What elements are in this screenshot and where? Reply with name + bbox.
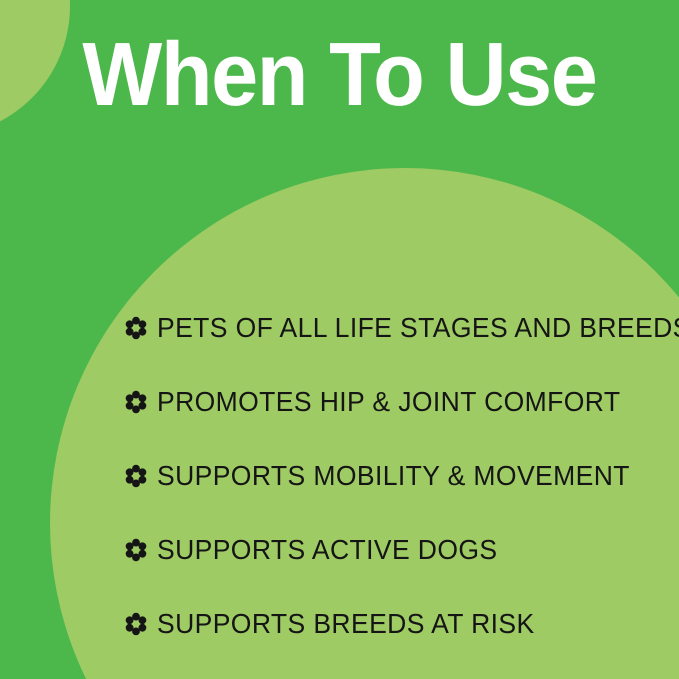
list-item-label: SUPPORTS ACTIVE DOGS xyxy=(157,536,498,564)
list-item-label: SUPPORTS BREEDS AT RISK xyxy=(157,610,535,638)
title-container: When To Use xyxy=(0,0,679,150)
when-to-use-poster: When To Use PETS OF ALL LIFE STAGES AND … xyxy=(0,0,679,679)
list-item-label: PETS OF ALL LIFE STAGES AND BREEDS xyxy=(157,314,679,342)
list-item: PETS OF ALL LIFE STAGES AND BREEDS xyxy=(124,296,669,360)
feature-list: PETS OF ALL LIFE STAGES AND BREEDS PROMO… xyxy=(124,296,669,656)
six-petal-flower-bullet-icon xyxy=(124,316,148,340)
six-petal-flower-bullet-icon xyxy=(124,612,148,636)
list-item-label: SUPPORTS MOBILITY & MOVEMENT xyxy=(157,462,630,490)
page-title: When To Use xyxy=(82,30,596,120)
six-petal-flower-bullet-icon xyxy=(124,390,148,414)
list-item: PROMOTES HIP & JOINT COMFORT xyxy=(124,370,669,434)
six-petal-flower-bullet-icon xyxy=(124,464,148,488)
six-petal-flower-bullet-icon xyxy=(124,538,148,562)
list-item: SUPPORTS MOBILITY & MOVEMENT xyxy=(124,444,669,508)
list-item-label: PROMOTES HIP & JOINT COMFORT xyxy=(157,388,620,416)
list-item: SUPPORTS BREEDS AT RISK xyxy=(124,592,669,656)
list-item: SUPPORTS ACTIVE DOGS xyxy=(124,518,669,582)
